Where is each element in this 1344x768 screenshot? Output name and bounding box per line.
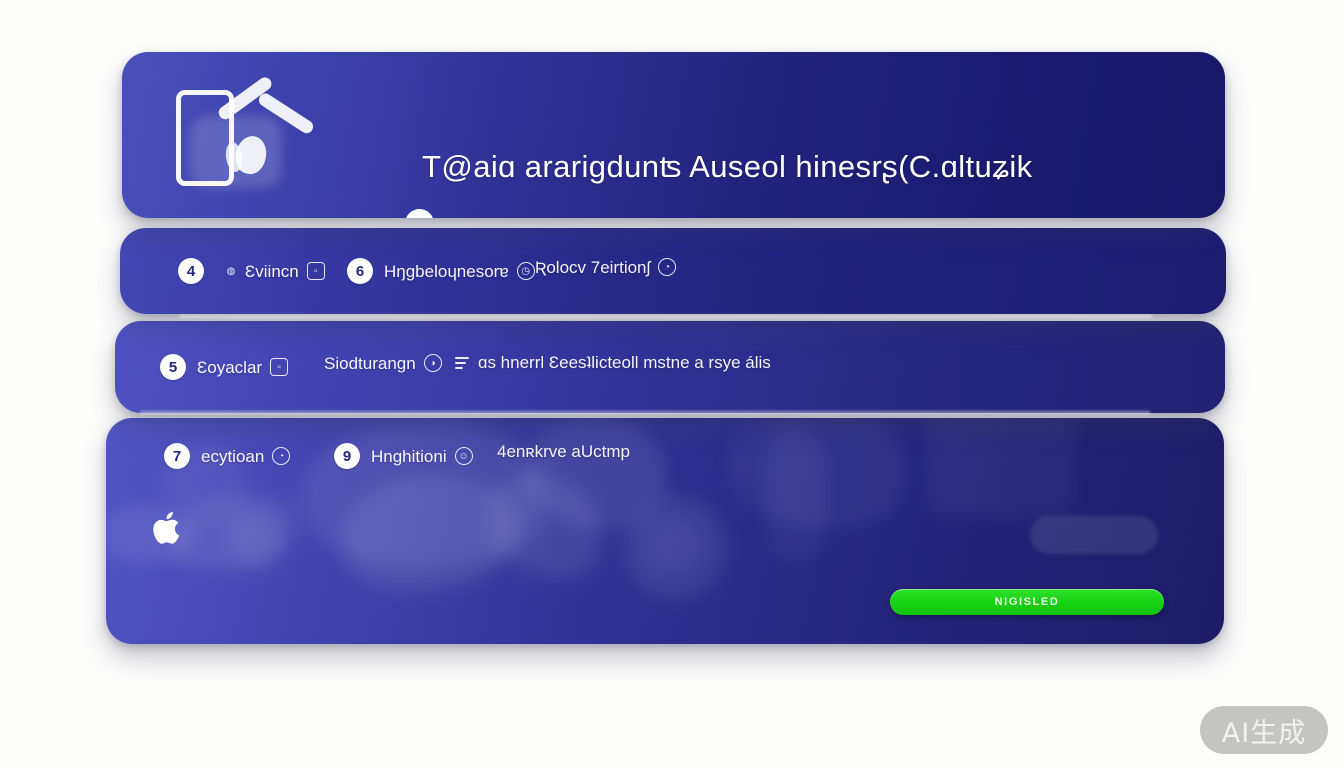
list-item-label: ɑs hnerrl Ɛeesʇlicteoll mstne a rsye áli…	[478, 354, 771, 371]
list-item-label: ecytioan	[201, 448, 264, 465]
apple-logo-icon	[152, 508, 186, 548]
card-seam	[180, 315, 1152, 318]
square-icon: ▫	[307, 262, 325, 280]
list-item-label: Hnghitioni	[371, 448, 447, 465]
page-title: T@aiɑ ararigdunʦ Auseol hinesrʂ(C.ɑltuʑi…	[422, 151, 1033, 182]
list-item[interactable]: Ʀolocᴠ 7eirtionʃ ◔	[535, 258, 676, 276]
circle-icon: ◔	[272, 447, 290, 465]
pin-icon: ◍	[223, 263, 239, 279]
page-stage: T@aiɑ ararigdunʦ Auseol hinesrʂ(C.ɑltuʑi…	[0, 0, 1344, 768]
list-item-label: Ɛoyaclar	[197, 359, 262, 376]
circle-icon: ◷	[517, 262, 535, 280]
lines-icon	[455, 356, 469, 370]
ai-watermark: AI生成	[1200, 706, 1328, 754]
list-item-label: Hŋgbeloɥnesorɐ	[384, 263, 509, 280]
list-item-label: Ʀolocᴠ 7eirtionʃ	[535, 259, 650, 276]
list-item-label: Siodturangn	[324, 355, 416, 372]
step-badge: 4	[178, 258, 204, 284]
list-item[interactable]: ɑs hnerrl Ɛeesʇlicteoll mstne a rsye áli…	[455, 354, 771, 371]
cta-button[interactable]: NIGISLED	[890, 589, 1164, 615]
list-item[interactable]: 6 Hŋgbeloɥnesorɐ ◷	[347, 258, 535, 284]
circle-icon: ☺	[455, 447, 473, 465]
header-card[interactable]: T@aiɑ ararigdunʦ Auseol hinesrʂ(C.ɑltuʑi…	[122, 52, 1225, 218]
list-item[interactable]: 4enʀkrve aUctmp	[497, 443, 630, 460]
row3-chip-row: 5 Ɛoyaclar ▫ Siodturangn ◑ ɑs hnerrl Ɛee…	[115, 321, 1225, 413]
step-badge: 5	[160, 354, 186, 380]
row-card-3[interactable]: 5 Ɛoyaclar ▫ Siodturangn ◑ ɑs hnerrl Ɛee…	[115, 321, 1225, 413]
arm-shape	[220, 88, 316, 134]
row2-chip-row: 4 ◍ Ɛviincn ▫ 6 Hŋgbeloɥnesorɐ ◷ Ʀolocᴠ …	[120, 228, 1226, 314]
list-item-label: Ɛviincn	[245, 263, 299, 280]
list-item[interactable]: 7 ecytioan ◔	[164, 443, 290, 469]
card-seam	[140, 411, 1150, 414]
row-card-2[interactable]: 4 ◍ Ɛviincn ▫ 6 Hŋgbeloɥnesorɐ ◷ Ʀolocᴠ …	[120, 228, 1226, 314]
circle-icon: ◔	[658, 258, 676, 276]
list-item[interactable]: 5 Ɛoyaclar ▫	[160, 354, 288, 380]
phone-hand-icon	[174, 82, 302, 192]
circle-icon: ◑	[424, 354, 442, 372]
list-item[interactable]: 9 Hnghitioni ☺	[334, 443, 473, 469]
step-badge: 7	[164, 443, 190, 469]
step-badge: 9	[334, 443, 360, 469]
list-item[interactable]: Siodturangn ◑	[324, 354, 442, 372]
list-item-label: 4enʀkrve aUctmp	[497, 443, 630, 460]
step-badge: 6	[347, 258, 373, 284]
list-item[interactable]: 4 ◍ Ɛviincn ▫	[178, 258, 325, 284]
square-icon: ▫	[270, 358, 288, 376]
